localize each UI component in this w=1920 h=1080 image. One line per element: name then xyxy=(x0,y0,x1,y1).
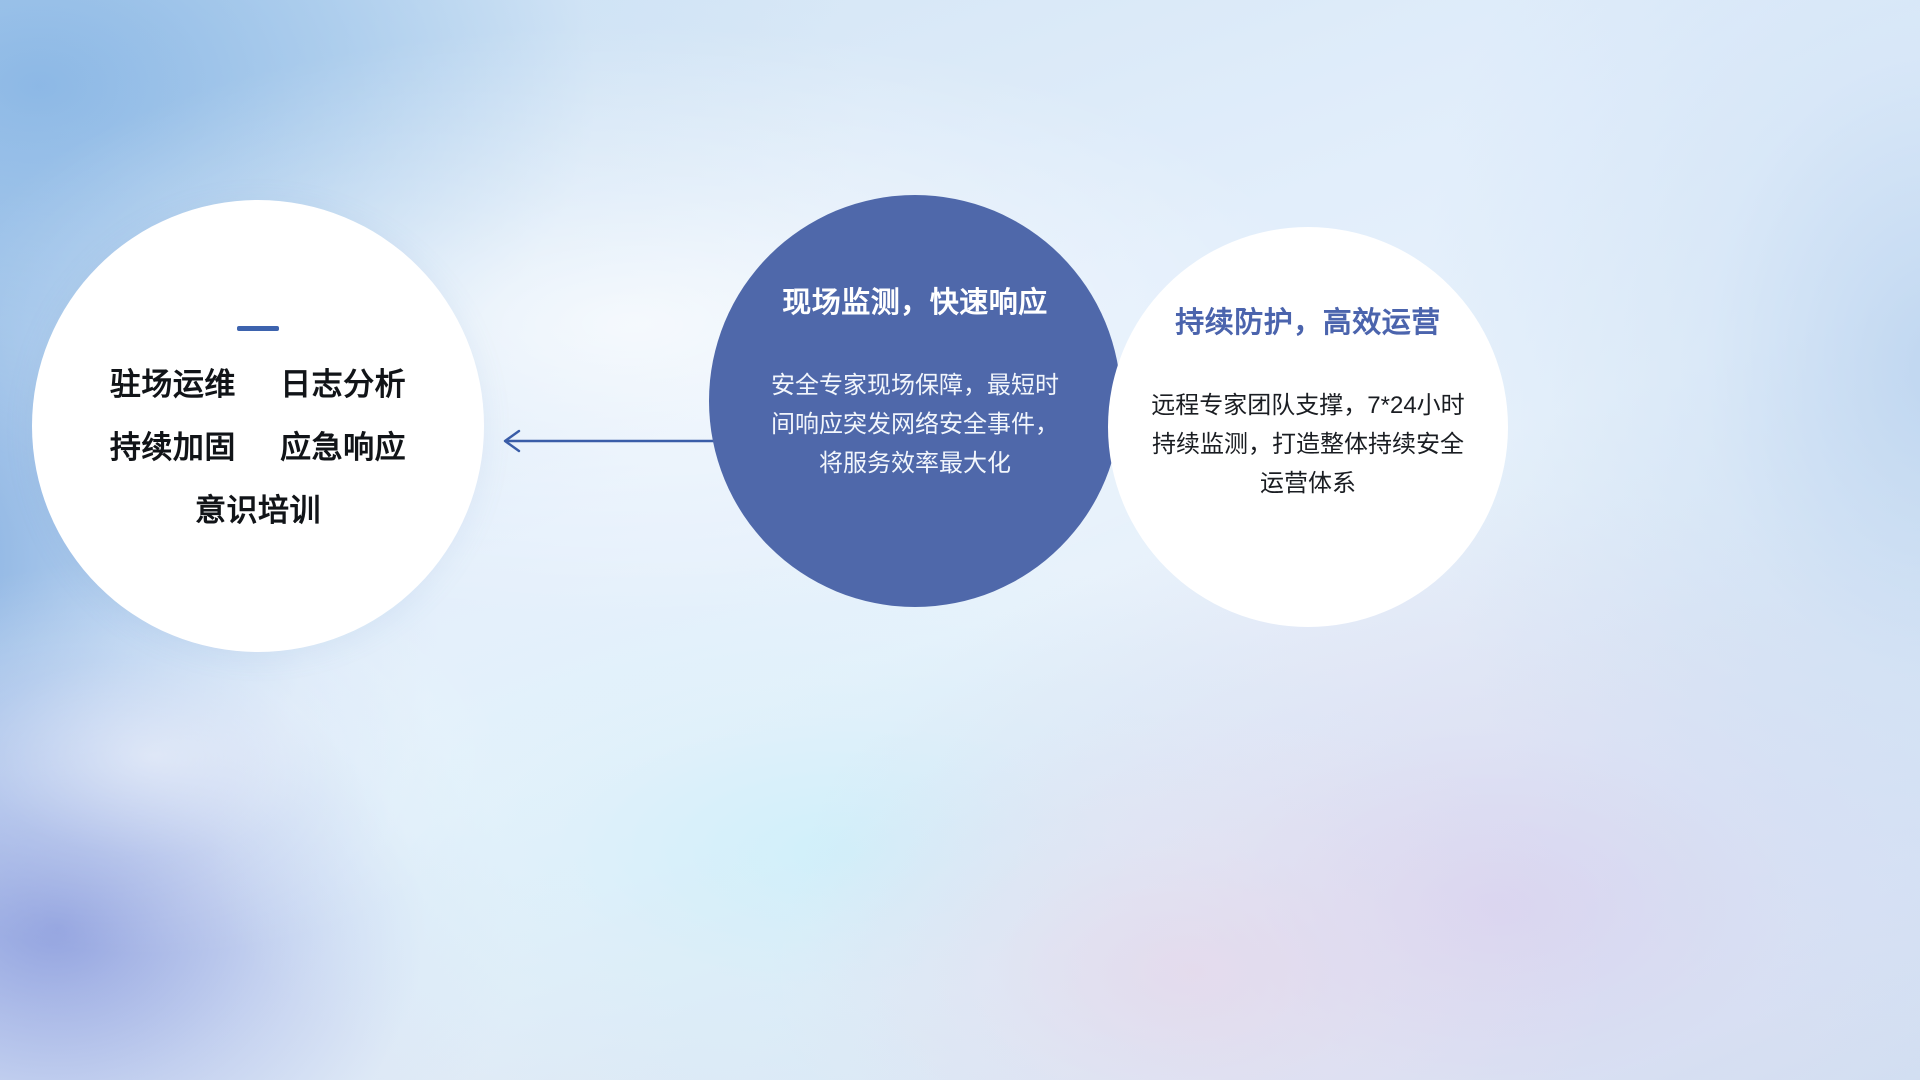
capabilities-circle[interactable]: 驻场运维 日志分析 持续加固 应急响应 意识培训 xyxy=(32,200,484,652)
continuous-protection-body: 远程专家团队支撑，7*24小时持续监测，打造整体持续安全运营体系 xyxy=(1143,387,1473,504)
capability-row-3: 意识培训 xyxy=(195,495,321,526)
capability-label: 日志分析 xyxy=(280,367,406,402)
capability-label: 持续加固 xyxy=(110,430,236,465)
continuous-protection-circle[interactable]: 持续防护，高效运营 远程专家团队支撑，7*24小时持续监测，打造整体持续安全运营… xyxy=(1108,227,1508,627)
left-arrow-icon xyxy=(492,420,722,462)
capability-label: 意识培训 xyxy=(195,493,321,528)
capability-row-2: 持续加固 应急响应 xyxy=(110,432,406,463)
onsite-monitoring-circle[interactable]: 现场监测，快速响应 安全专家现场保障，最短时间响应突发网络安全事件，将服务效率最… xyxy=(709,195,1121,607)
continuous-protection-title: 持续防护，高效运营 xyxy=(1175,299,1441,341)
capability-label: 驻场运维 xyxy=(110,367,236,402)
onsite-monitoring-body: 安全专家现场保障，最短时间响应突发网络安全事件，将服务效率最大化 xyxy=(765,367,1065,484)
capability-row-1: 驻场运维 日志分析 xyxy=(110,369,406,400)
slide-canvas: 驻场运维 日志分析 持续加固 应急响应 意识培训 现场监测，快速响应 安全专家现… xyxy=(0,0,1920,1080)
horizontal-rule-icon xyxy=(237,326,279,331)
onsite-monitoring-title: 现场监测，快速响应 xyxy=(782,279,1048,321)
capability-label: 应急响应 xyxy=(280,430,406,465)
